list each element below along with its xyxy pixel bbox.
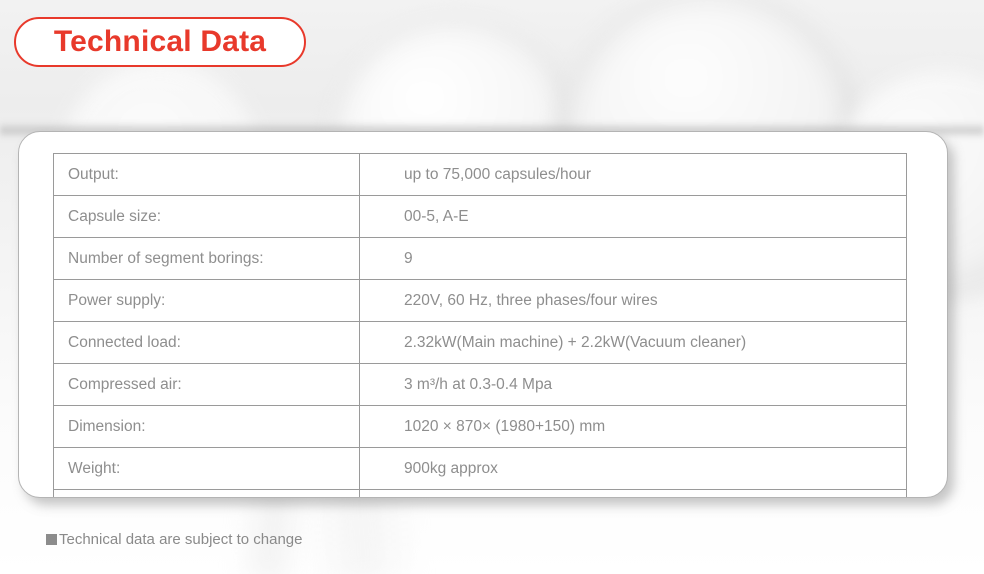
spec-value-weight: 900kg approx [360,448,907,490]
technical-data-card: Output: up to 75,000 capsules/hour Capsu… [18,131,948,498]
spec-label-connected-load: Connected load: [54,322,360,364]
table-row-partial [54,490,907,499]
spec-value-output: up to 75,000 capsules/hour [360,154,907,196]
spec-value-capsule-size: 00-5, A-E [360,196,907,238]
table-row: Dimension: 1020 × 870× (1980+150) mm [54,406,907,448]
table-row: Weight: 900kg approx [54,448,907,490]
footer-note: Technical data are subject to change [46,531,303,548]
technical-data-table: Output: up to 75,000 capsules/hour Capsu… [53,153,907,498]
spec-value-power-supply: 220V, 60 Hz, three phases/four wires [360,280,907,322]
spec-label-power-supply: Power supply: [54,280,360,322]
page-title: Technical Data [54,25,266,59]
filled-square-icon [46,534,57,545]
table-row: Connected load: 2.32kW(Main machine) + 2… [54,322,907,364]
table-row: Capsule size: 00-5, A-E [54,196,907,238]
table-row: Compressed air: 3 m³/h at 0.3-0.4 Mpa [54,364,907,406]
spec-label-weight: Weight: [54,448,360,490]
table-body: Output: up to 75,000 capsules/hour Capsu… [54,154,907,499]
table-row: Number of segment borings: 9 [54,238,907,280]
spec-label-empty [54,490,360,499]
footer-note-text: Technical data are subject to change [59,531,303,548]
spec-value-segment-borings: 9 [360,238,907,280]
spec-label-dimension: Dimension: [54,406,360,448]
spec-value-dimension: 1020 × 870× (1980+150) mm [360,406,907,448]
spec-value-connected-load: 2.32kW(Main machine) + 2.2kW(Vacuum clea… [360,322,907,364]
spec-label-segment-borings: Number of segment borings: [54,238,360,280]
spec-value-compressed-air: 3 m³/h at 0.3-0.4 Mpa [360,364,907,406]
page-title-badge: Technical Data [14,17,306,67]
table-row: Power supply: 220V, 60 Hz, three phases/… [54,280,907,322]
spec-label-compressed-air: Compressed air: [54,364,360,406]
table-row: Output: up to 75,000 capsules/hour [54,154,907,196]
spec-label-capsule-size: Capsule size: [54,196,360,238]
spec-label-output: Output: [54,154,360,196]
spec-value-empty [360,490,907,499]
